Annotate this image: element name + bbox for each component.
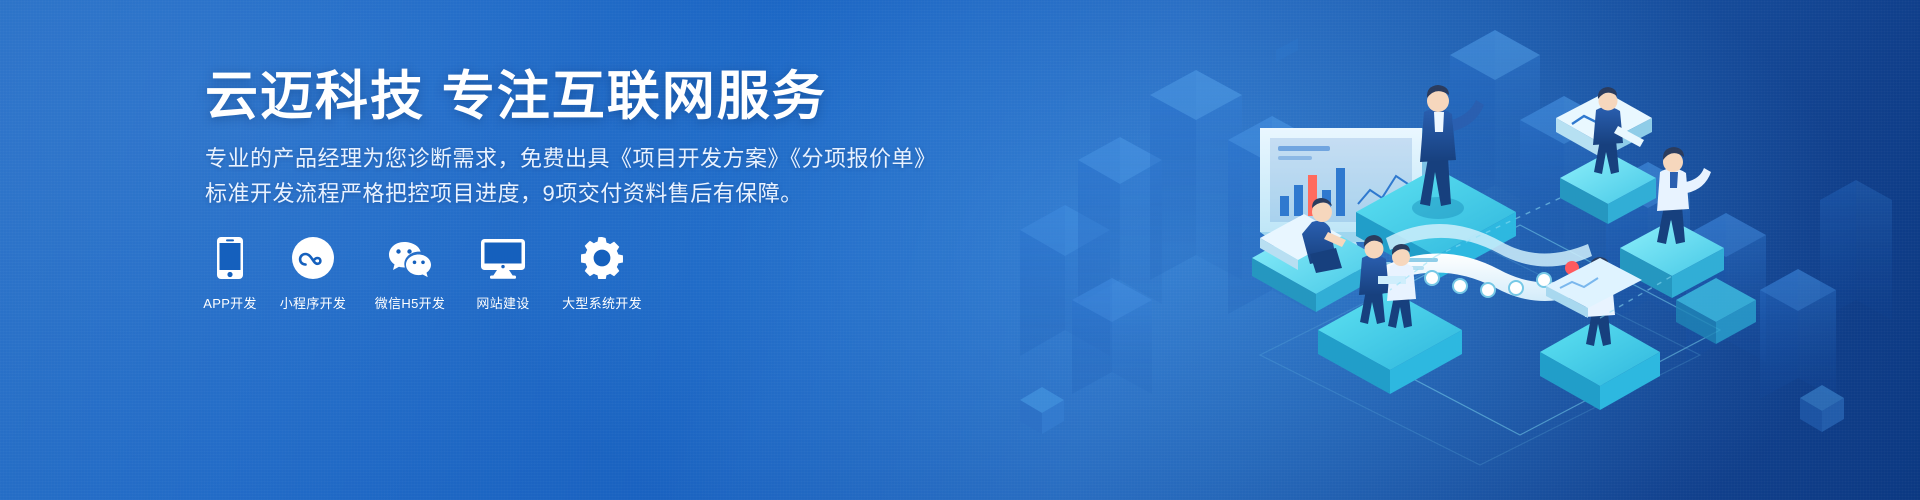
service-item-miniprogram[interactable]: 小程序开发	[277, 233, 349, 312]
mobile-phone-icon	[207, 233, 253, 279]
hero-banner: 云迈科技 专注互联网服务 专业的产品经理为您诊断需求，免费出具《项目开发方案》《…	[0, 0, 1920, 500]
service-item-system[interactable]: 大型系统开发	[557, 233, 647, 312]
pedestal-lower-left	[1318, 290, 1462, 394]
page-title: 云迈科技 专注互联网服务	[205, 70, 827, 123]
service-list: APP开发 小程序开发	[205, 233, 647, 312]
service-label: 微信H5开发	[375, 293, 445, 312]
service-item-website[interactable]: 网站建设	[471, 233, 535, 312]
hero-content: 云迈科技 专注互联网服务 专业的产品经理为您诊断需求，免费出具《项目开发方案》《…	[205, 0, 965, 500]
floating-cubes	[1020, 382, 1844, 434]
monitor-icon	[480, 233, 526, 279]
wechat-icon	[387, 233, 433, 279]
service-label: 小程序开发	[280, 293, 347, 312]
mini-program-icon	[290, 233, 336, 279]
service-label: 大型系统开发	[562, 293, 642, 312]
subtitle-line-1: 专业的产品经理为您诊断需求，免费出具《项目开发方案》《分项报价单》	[205, 148, 937, 170]
gear-icon	[579, 233, 625, 279]
service-label: APP开发	[203, 293, 257, 312]
service-item-wechat[interactable]: 微信H5开发	[371, 233, 449, 312]
subtitle-line-2: 标准开发流程严格把控项目进度，9项交付资料售后有保障。	[205, 183, 803, 205]
service-item-app[interactable]: APP开发	[205, 233, 255, 312]
service-label: 网站建设	[476, 293, 529, 312]
illustration-isometric-tech-team	[960, 0, 1920, 500]
